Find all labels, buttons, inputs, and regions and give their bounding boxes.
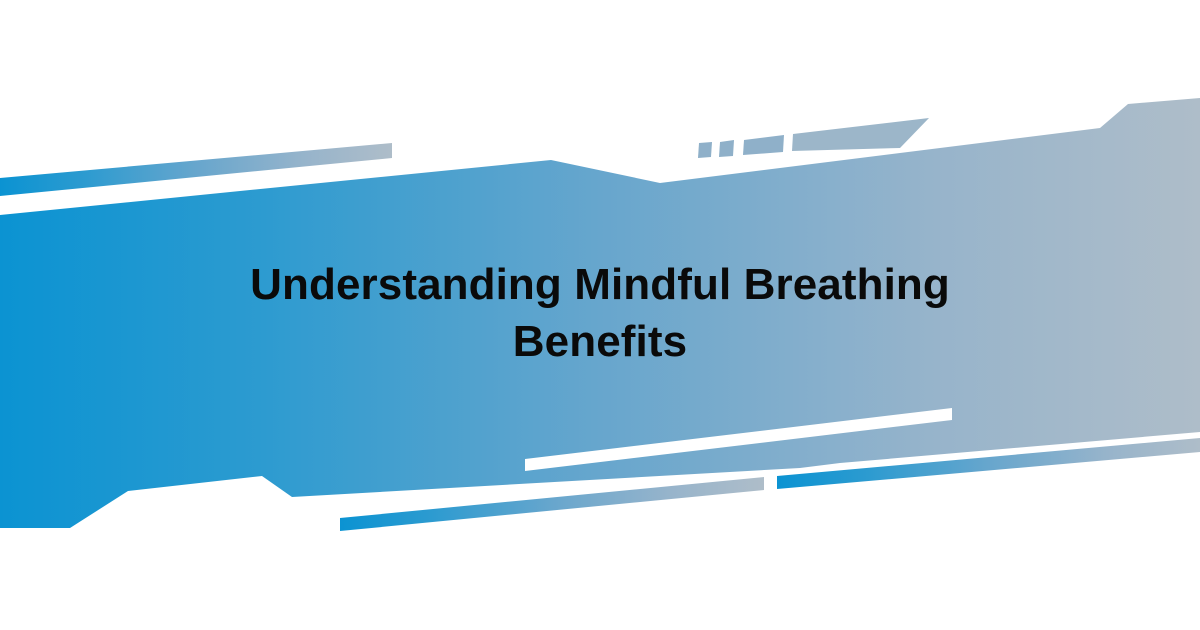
banner-card: Understanding Mindful Breathing Benefits xyxy=(0,0,1200,630)
top-right-dash-segments xyxy=(698,118,929,158)
decorative-background-graphic xyxy=(0,0,1200,630)
